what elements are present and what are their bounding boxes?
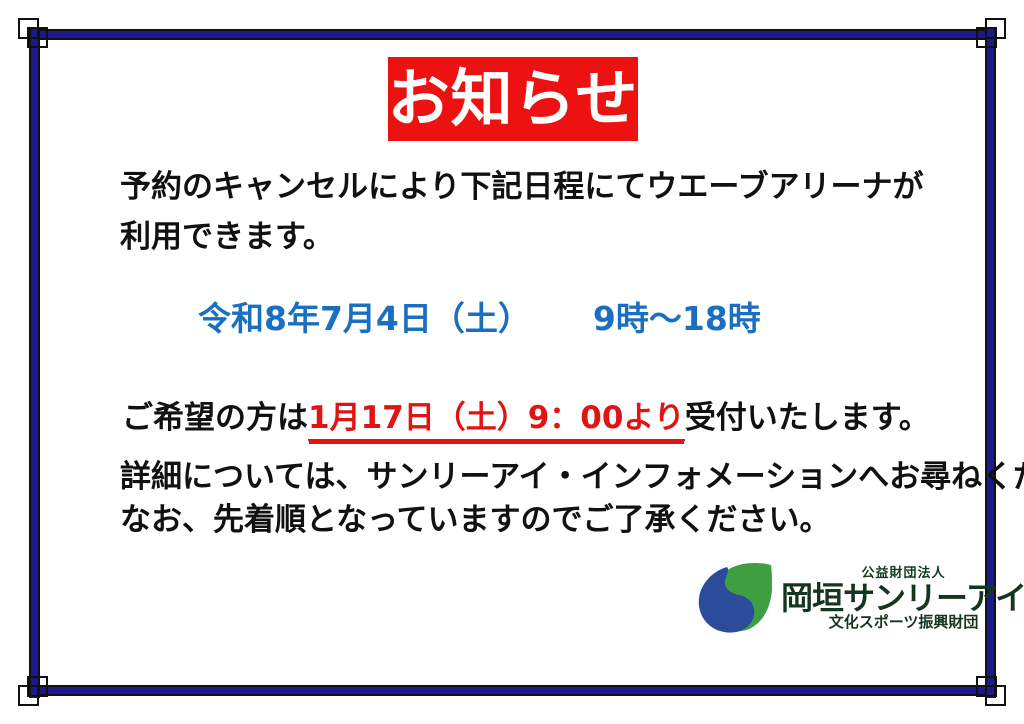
schedule-date: 令和8年7月4日（土）: [198, 302, 531, 335]
logo-top-text: 公益財団法人: [862, 567, 946, 580]
logo-wordmark: 公益財団法人 岡垣サンリーアイ 文化スポーツ振興財団: [781, 567, 1024, 630]
intro-text-line-1: 予約のキャンセルにより下記日程にてウエーブアリーナが: [120, 172, 924, 203]
schedule-row: 令和8年7月4日（土） 9時〜18時: [198, 302, 761, 335]
organization-logo: 公益財団法人 岡垣サンリーアイ 文化スポーツ振興財団: [697, 557, 967, 639]
corner-knot-top-left-icon: [18, 18, 48, 48]
frame-bottom-bar: [27, 685, 997, 696]
logo-main-text: 岡垣サンリーアイ: [781, 582, 1024, 614]
corner-knot-bottom-right-icon: [976, 676, 1006, 706]
frame-top-bar: [27, 29, 997, 40]
corner-knot-bottom-left-icon: [18, 676, 48, 706]
reservation-start-datetime: 1月17日（土）9：00より: [308, 403, 685, 441]
sunny-eye-swirl-icon: [697, 561, 775, 635]
page-title: お知らせ: [388, 68, 639, 130]
note-text-line-2: なお、先着順となっていますのでご了承ください。: [120, 505, 831, 536]
title-banner: お知らせ: [388, 57, 638, 141]
announcement-poster: お知らせ 予約のキャンセルにより下記日程にてウエーブアリーナが 利用できます。 …: [0, 0, 1024, 724]
reservation-prefix: ご希望の方は: [122, 403, 308, 434]
intro-text-line-2: 利用できます。: [120, 222, 334, 253]
logo-bottom-text: 文化スポーツ振興財団: [829, 615, 979, 630]
note-text-line-1: 詳細については、サンリーアイ・インフォメーションへお尋ねください。: [120, 462, 1024, 493]
frame-left-bar: [29, 27, 40, 698]
corner-knot-top-right-icon: [976, 18, 1006, 48]
reservation-row: ご希望の方は 1月17日（土）9：00より 受付いたします。: [122, 403, 930, 441]
schedule-time: 9時〜18時: [593, 302, 761, 335]
reservation-suffix: 受付いたします。: [685, 403, 930, 434]
